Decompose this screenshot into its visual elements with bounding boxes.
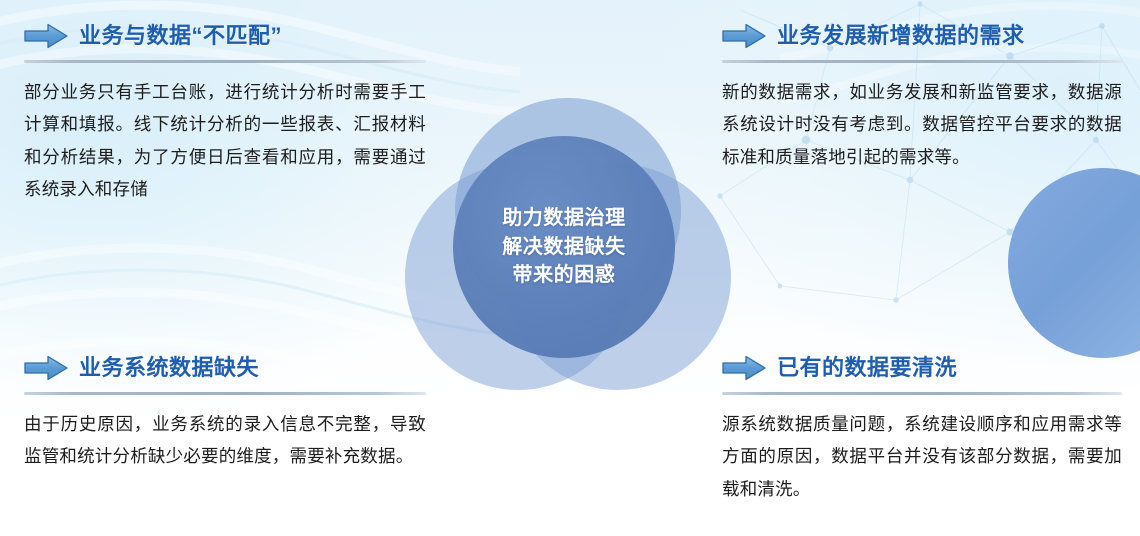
block-business-data-mismatch: 业务与数据“不匹配” 部分业务只有手工台账，进行统计分析时需要手工计算和填报。线…: [24, 18, 426, 206]
block-title: 业务系统数据缺失: [79, 357, 259, 379]
block-body: 新的数据需求，如业务发展和新监管要求，数据源系统设计时没有考虑到。数据管控平台要…: [722, 76, 1122, 173]
block-body: 源系统数据质量问题，系统建设顺序和应用需求等方面的原因，数据平台并没有该部分数据…: [722, 408, 1122, 505]
block-body: 部分业务只有手工台账，进行统计分析时需要手工计算和填报。线下统计分析的一些报表、…: [24, 76, 426, 206]
block-header: 业务与数据“不匹配”: [24, 18, 426, 54]
header-divider: [24, 60, 426, 63]
right-arrow-icon: [722, 355, 766, 381]
block-header: 业务发展新增数据的需求: [722, 18, 1122, 54]
block-header: 业务系统数据缺失: [24, 350, 426, 386]
header-divider: [24, 392, 426, 395]
block-title: 已有的数据要清洗: [777, 357, 957, 379]
center-venn-graphic: 助力数据治理 解决数据缺失 带来的困惑: [405, 98, 735, 398]
center-label: 助力数据治理 解决数据缺失 带来的困惑: [453, 136, 675, 358]
right-arrow-icon: [24, 23, 68, 49]
right-arrow-icon: [722, 23, 766, 49]
block-existing-data-cleaning: 已有的数据要清洗 源系统数据质量问题，系统建设顺序和应用需求等方面的原因，数据平…: [722, 350, 1122, 505]
center-label-line-1: 助力数据治理: [502, 205, 626, 232]
header-divider: [722, 60, 1122, 63]
header-divider: [722, 392, 1122, 395]
right-arrow-icon: [24, 355, 68, 381]
block-body: 由于历史原因，业务系统的录入信息不完整，导致监管和统计分析缺少必要的维度，需要补…: [24, 408, 426, 473]
block-title: 业务发展新增数据的需求: [777, 25, 1025, 47]
center-label-line-2: 解决数据缺失: [502, 234, 626, 261]
center-label-line-3: 带来的困惑: [513, 262, 616, 289]
block-header: 已有的数据要清洗: [722, 350, 1122, 386]
infographic-slide: 助力数据治理 解决数据缺失 带来的困惑 业务与数据“不匹配” 部分业务只有手工台…: [0, 0, 1140, 536]
block-title: 业务与数据“不匹配”: [79, 25, 282, 47]
block-business-system-data-missing: 业务系统数据缺失 由于历史原因，业务系统的录入信息不完整，导致监管和统计分析缺少…: [24, 350, 426, 473]
block-new-data-demand: 业务发展新增数据的需求 新的数据需求，如业务发展和新监管要求，数据源系统设计时没…: [722, 18, 1122, 173]
